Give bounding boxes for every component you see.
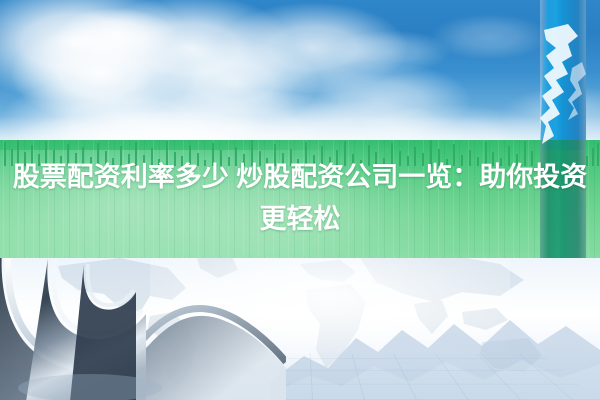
cloud-shape [218,2,408,94]
cloud-shape [150,40,320,126]
cloud-shape [430,14,550,60]
headline-line-1: 股票配资利率多少 炒股配资公司一览：助你投资 [0,156,600,198]
cloud-shape [56,8,176,60]
lower-abstract-graphic [0,258,600,400]
page-title: 股票配资利率多少 炒股配资公司一览：助你投资 更轻松 [0,156,600,240]
cloud-shape [0,0,190,102]
stock-financing-banner: 股票配资利率多少 炒股配资公司一览：助你投资 更轻松 [0,0,600,400]
headline-line-2: 更轻松 [0,198,600,240]
sky-background [0,0,600,150]
metallic-swirl-icon [0,258,286,400]
cloud-shape [330,30,450,74]
cloud-shape [86,0,296,104]
cloud-shape [10,26,190,122]
